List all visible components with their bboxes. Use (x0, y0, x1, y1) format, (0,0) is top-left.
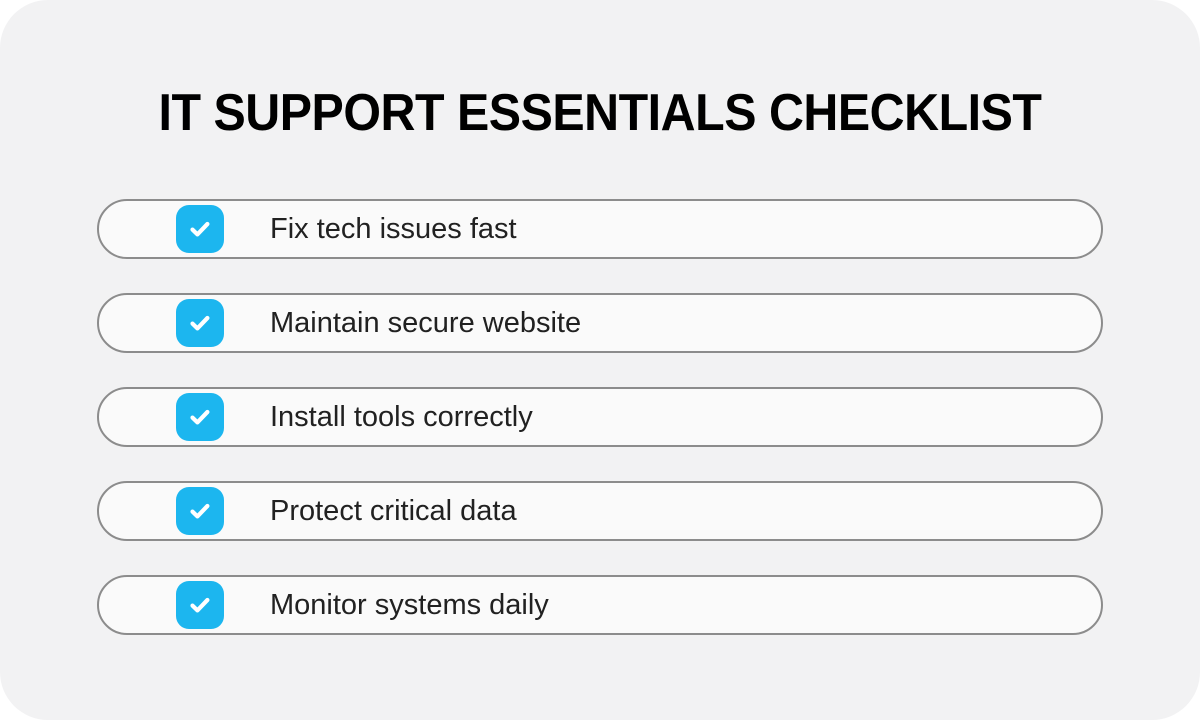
checklist-card: IT SUPPORT ESSENTIALS CHECKLIST Fix tech… (0, 0, 1200, 720)
checkbox-checked[interactable] (176, 205, 224, 253)
list-item[interactable]: Monitor systems daily (97, 575, 1103, 635)
list-item-label: Protect critical data (270, 494, 517, 528)
list-item[interactable]: Install tools correctly (97, 387, 1103, 447)
checkbox-checked[interactable] (176, 581, 224, 629)
checklist: Fix tech issues fast Maintain secure web… (97, 199, 1103, 635)
checkbox-checked[interactable] (176, 393, 224, 441)
list-item[interactable]: Protect critical data (97, 481, 1103, 541)
list-item-label: Maintain secure website (270, 306, 581, 340)
check-icon (186, 403, 214, 431)
page-title: IT SUPPORT ESSENTIALS CHECKLIST (42, 82, 1158, 144)
check-icon (186, 215, 214, 243)
list-item-label: Fix tech issues fast (270, 212, 517, 246)
checkbox-checked[interactable] (176, 299, 224, 347)
checkbox-checked[interactable] (176, 487, 224, 535)
list-item[interactable]: Fix tech issues fast (97, 199, 1103, 259)
list-item-label: Install tools correctly (270, 400, 533, 434)
check-icon (186, 591, 214, 619)
check-icon (186, 309, 214, 337)
check-icon (186, 497, 214, 525)
list-item-label: Monitor systems daily (270, 588, 549, 622)
list-item[interactable]: Maintain secure website (97, 293, 1103, 353)
